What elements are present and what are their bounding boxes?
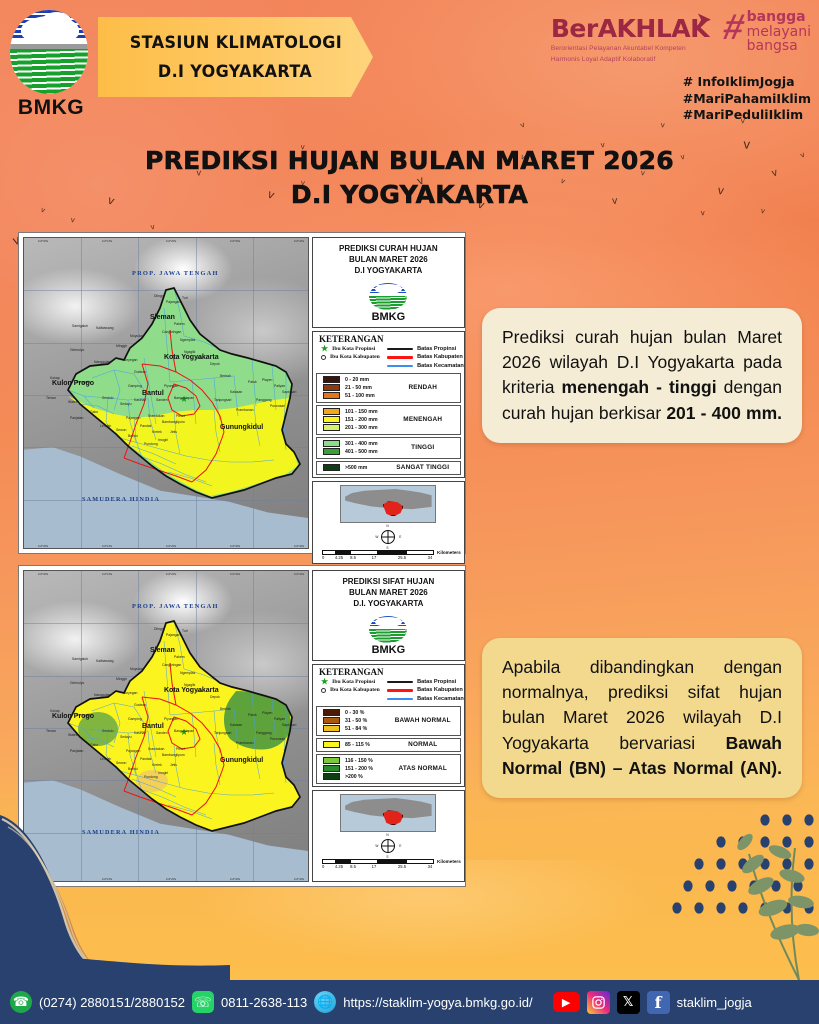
footer-website[interactable]: https://staklim-yogya.bmkg.go.id/ bbox=[343, 995, 532, 1010]
class-range-label: 116 - 150 % bbox=[345, 758, 373, 764]
berakhlak-sub-2: Harmonis Loyal Adaptif Kolaboratif bbox=[551, 55, 709, 65]
map1-legend-box: KETERANGAN ★ Ibu Kota Propinsi Ibu Kota … bbox=[312, 331, 465, 478]
map-label: Bantul bbox=[128, 434, 138, 438]
map-label: Mlati bbox=[196, 689, 203, 693]
axis-tick: 110°10'E bbox=[102, 545, 112, 548]
map-label: Panggang bbox=[256, 731, 271, 735]
axis-tick: 110°00'E bbox=[38, 545, 48, 548]
map-label: Pandak bbox=[140, 424, 152, 428]
axis-tick: 110°10'E bbox=[102, 573, 112, 576]
class-row: 201 - 300 mm bbox=[317, 424, 386, 432]
map-label: PROP. JAWA TENGAH bbox=[132, 270, 219, 277]
boundary-line-row-2: Batas Kecamatan bbox=[387, 695, 464, 704]
map-label: Piyungan bbox=[164, 384, 178, 388]
bird-icon: ᴠ bbox=[150, 223, 155, 231]
class-row: >500 mm bbox=[317, 464, 386, 472]
map-label: Bantul bbox=[142, 390, 164, 397]
class-row: 401 - 500 mm bbox=[317, 448, 386, 456]
axis-tick: 110°00'E bbox=[38, 240, 48, 243]
scale-label: 34 bbox=[416, 555, 444, 560]
bangga-line-1: bangga bbox=[747, 10, 811, 25]
map1-bmkg-logo: BMKG bbox=[313, 280, 464, 327]
class-color-swatch bbox=[323, 448, 340, 455]
banner-line-2: D.I YOGYAKARTA bbox=[158, 62, 312, 82]
class-group-name: NORMAL bbox=[386, 741, 460, 748]
axis-tick: 110°20'E bbox=[166, 573, 176, 576]
map-label: Imogiri bbox=[158, 438, 168, 442]
map1-scale-unit: Kilometers bbox=[437, 550, 461, 555]
map-label: Pakem bbox=[174, 655, 185, 659]
map-label: Sanden bbox=[156, 398, 168, 402]
class-group-name: RENDAH bbox=[386, 384, 460, 391]
whatsapp-icon[interactable]: ☏ bbox=[192, 991, 214, 1013]
map2-keterangan-heading: KETERANGAN bbox=[313, 665, 464, 678]
map-label: Pajangan bbox=[166, 300, 180, 304]
map-label: Turi bbox=[182, 296, 188, 300]
map1-scale-bar: Kilometers 04.258.51725.534 bbox=[316, 550, 461, 561]
bmkg-land-stripes bbox=[10, 49, 88, 94]
map-label: Godean bbox=[134, 370, 146, 374]
map-label: Ngemplak bbox=[180, 671, 195, 675]
decoration-right-leaves bbox=[649, 790, 819, 980]
map-label: Berbah bbox=[220, 374, 231, 378]
header: BMKG STASIUN KLIMATOLOGI D.I YOGYAKARTA … bbox=[0, 0, 819, 125]
station-banner: STASIUN KLIMATOLOGI D.I YOGYAKARTA bbox=[98, 17, 373, 97]
youtube-icon[interactable]: ▶ bbox=[553, 992, 580, 1012]
map-label: Temon bbox=[46, 729, 56, 733]
class-color-swatch bbox=[323, 773, 340, 780]
axis-tick: 110°40'E bbox=[294, 240, 304, 243]
bmkg-logo-text: BMKG bbox=[10, 96, 92, 120]
map2-bmkg-label: BMKG bbox=[372, 644, 406, 656]
map2-title-box: PREDIKSI SIFAT HUJAN BULAN MARET 2026 D.… bbox=[312, 570, 465, 661]
class-range-label: 301 - 400 mm bbox=[345, 441, 378, 447]
rainfall-summary-bubble: Prediksi curah hujan bulan Maret 2026 wi… bbox=[482, 308, 802, 443]
map-label: Saptosari bbox=[282, 723, 296, 727]
boundary-line-label: Batas Kabupaten bbox=[417, 686, 463, 695]
axis-tick: 110°00'E bbox=[38, 573, 48, 576]
class-color-swatch bbox=[323, 765, 340, 772]
class-row: 116 - 150 % bbox=[317, 757, 386, 765]
class-color-swatch bbox=[323, 464, 340, 471]
map-label: Banguntapan bbox=[174, 396, 194, 400]
star-icon: ★ bbox=[321, 345, 328, 353]
map2-symbol-label-0: Ibu Kota Propinsi bbox=[332, 678, 375, 687]
scale-label: 25.5 bbox=[388, 555, 416, 560]
map-label: Gunungkidul bbox=[220, 424, 263, 431]
berakhlak-sub-1: Berorientasi Pelayanan Akuntabel Kompete… bbox=[551, 44, 709, 54]
map2-scale-unit: Kilometers bbox=[437, 859, 461, 864]
axis-tick: 110°20'E bbox=[166, 240, 176, 243]
map2-symbol-row-1: Ibu Kota Kabupaten bbox=[313, 686, 383, 695]
class-group-1: 85 - 115 %NORMAL bbox=[316, 738, 461, 752]
map-label: Pajangan bbox=[126, 749, 140, 753]
map1-legend-title-1: PREDIKSI CURAH HUJAN bbox=[317, 243, 460, 254]
class-group-2: 301 - 400 mm401 - 500 mmTINGGI bbox=[316, 437, 461, 459]
map2-inset-box: N S E W Kilometers bbox=[312, 790, 465, 882]
map-label: Saptosari bbox=[282, 390, 296, 394]
footer-whatsapp: 0811-2638-113 bbox=[221, 995, 307, 1010]
hashtag-2: #MariPeduliIklim bbox=[683, 107, 811, 124]
class-color-swatch bbox=[323, 717, 340, 724]
map-label: Lendah bbox=[100, 424, 111, 428]
class-color-swatch bbox=[323, 725, 340, 732]
map-label: Pajangan bbox=[166, 633, 180, 637]
map-label: Banguntapan bbox=[174, 729, 194, 733]
map-label: Purwosari bbox=[270, 404, 285, 408]
map-label: Gunungkidul bbox=[220, 757, 263, 764]
map-label: Tanjungsari bbox=[214, 398, 231, 402]
map-label: Sleman bbox=[150, 647, 175, 654]
page-title-line-1: PREDIKSI HUJAN BULAN MARET 2026 bbox=[0, 144, 819, 178]
boundary-line-label: Batas Propinsi bbox=[417, 345, 456, 354]
map-label: Kalibawang bbox=[96, 659, 114, 663]
class-group-name: BAWAH NORMAL bbox=[386, 717, 460, 724]
map-label: Prambanan bbox=[236, 408, 254, 412]
map-label: Wates bbox=[68, 400, 77, 404]
class-row: 31 - 50 % bbox=[317, 717, 386, 725]
map-label: Piyungan bbox=[164, 717, 178, 721]
class-row: 0 - 20 mm bbox=[317, 376, 386, 384]
boundary-line-swatch bbox=[387, 681, 413, 684]
map-label: Purwosari bbox=[270, 737, 285, 741]
map-label: Paliyan bbox=[274, 717, 285, 721]
scale-label: 34 bbox=[416, 864, 444, 869]
scale-label: 17 bbox=[360, 864, 388, 869]
scale-label: 4.25 bbox=[332, 555, 346, 560]
map-label: Pundong bbox=[144, 775, 158, 779]
map-label: Panjatan bbox=[70, 749, 83, 753]
class-group-1: 101 - 150 mm151 - 200 mm201 - 300 mmMENE… bbox=[316, 405, 461, 435]
footer-phone: (0274) 2880151/2880152 bbox=[39, 995, 185, 1010]
map-label: Minggir bbox=[116, 344, 127, 348]
map-label: Pundong bbox=[144, 442, 158, 446]
map2-legend-title-2: BULAN MARET 2026 bbox=[317, 587, 460, 598]
map-label: Playen bbox=[262, 378, 272, 382]
boundary-line-swatch bbox=[387, 356, 413, 359]
class-color-swatch bbox=[323, 408, 340, 415]
axis-tick: 110°40'E bbox=[294, 545, 304, 548]
map-label: Sleman bbox=[150, 314, 175, 321]
axis-tick: 110°30'E bbox=[230, 573, 240, 576]
map1-symbol-row-1: Ibu Kota Kabupaten bbox=[313, 353, 383, 362]
class-row: 301 - 400 mm bbox=[317, 440, 386, 448]
map-label: Jetis bbox=[170, 763, 177, 767]
class-color-swatch bbox=[323, 741, 340, 748]
map-label: Galur bbox=[90, 743, 98, 747]
map-label: Patuk bbox=[248, 380, 257, 384]
class-group-2: 116 - 150 %151 - 200 %>200 %ATAS NORMAL bbox=[316, 754, 461, 784]
compass-rose-icon: N S E W bbox=[375, 834, 401, 858]
boundary-line-row-1: Batas Kabupaten bbox=[387, 353, 464, 362]
class-range-label: >200 % bbox=[345, 774, 363, 780]
instagram-icon[interactable] bbox=[587, 991, 610, 1014]
map-label: Minggir bbox=[116, 677, 127, 681]
map1-bmkg-label: BMKG bbox=[372, 311, 406, 323]
decoration-left-wave bbox=[0, 805, 230, 980]
map-label: Ngemplak bbox=[180, 338, 195, 342]
map-label: Cangkringan bbox=[162, 663, 181, 667]
page-title: PREDIKSI HUJAN BULAN MARET 2026 D.I YOGY… bbox=[0, 144, 819, 212]
map-label: PROP. JAWA TENGAH bbox=[132, 603, 219, 610]
star-icon: ★ bbox=[321, 678, 328, 686]
map-label: Dlingo bbox=[154, 627, 164, 631]
map1-legend-title-2: BULAN MARET 2026 bbox=[317, 254, 460, 265]
map2-boundary-lines: Batas PropinsiBatas KabupatenBatas Kecam… bbox=[383, 678, 464, 704]
hashtag-1: #MariPahamiIklim bbox=[683, 91, 811, 108]
class-color-swatch bbox=[323, 392, 340, 399]
hash-icon: # bbox=[720, 10, 747, 43]
boundary-line-swatch bbox=[387, 348, 413, 351]
map-label: Pleret bbox=[176, 414, 185, 418]
map-label: Depok bbox=[210, 362, 220, 366]
map-label: Ngaglik bbox=[184, 683, 195, 687]
scale-label: 8.5 bbox=[346, 555, 360, 560]
map-label: Pleret bbox=[176, 747, 185, 751]
map-label: Temon bbox=[46, 396, 56, 400]
class-range-label: 151 - 200 mm bbox=[345, 417, 378, 423]
class-range-label: 0 - 30 % bbox=[345, 710, 364, 716]
map-label: Panjatan bbox=[70, 416, 83, 420]
map1-legend-title-3: D.I YOGYAKARTA bbox=[317, 265, 460, 276]
boundary-line-row-0: Batas Propinsi bbox=[387, 678, 464, 687]
map1-title-box: PREDIKSI CURAH HUJAN BULAN MARET 2026 D.… bbox=[312, 237, 465, 328]
berakhlak-arrow-icon: ➤ bbox=[697, 10, 711, 30]
map-label: Pengasih bbox=[76, 380, 90, 384]
map-label: Pajangan bbox=[126, 416, 140, 420]
class-range-label: 51 - 100 mm bbox=[345, 393, 375, 399]
scale-label: 0 bbox=[322, 864, 332, 869]
class-range-label: 31 - 50 % bbox=[345, 718, 367, 724]
map-label: SAMUDERA HINDIA bbox=[82, 496, 160, 503]
map-label: Bantul bbox=[142, 723, 164, 730]
banner-line-1: STASIUN KLIMATOLOGI bbox=[129, 33, 341, 53]
map-label: Dlingo bbox=[154, 294, 164, 298]
class-row: 151 - 200 mm bbox=[317, 416, 386, 424]
map-label: Turi bbox=[182, 629, 188, 633]
class-range-label: >500 mm bbox=[345, 465, 367, 471]
map-label: Mlati bbox=[196, 356, 203, 360]
map-label: Sedayu bbox=[120, 735, 132, 739]
map-label: Kalibawang bbox=[96, 326, 114, 330]
class-group-0: 0 - 30 %31 - 50 %51 - 84 %BAWAH NORMAL bbox=[316, 706, 461, 736]
map-label: Samigaluh bbox=[72, 324, 88, 328]
map2-class-groups: 0 - 30 %31 - 50 %51 - 84 %BAWAH NORMAL85… bbox=[313, 704, 464, 786]
class-range-label: 51 - 84 % bbox=[345, 726, 367, 732]
axis-tick: 110°40'E bbox=[294, 878, 304, 881]
axis-tick: 110°40'E bbox=[294, 573, 304, 576]
bmkg-logo: BMKG bbox=[10, 10, 88, 94]
hashtag-0: # InfoIklimJogja bbox=[683, 74, 811, 91]
map-label: Wates bbox=[68, 733, 77, 737]
map-label: Galur bbox=[90, 410, 98, 414]
class-group-3: >500 mmSANGAT TINGGI bbox=[316, 461, 461, 475]
footer-contact-bar: ☎ (0274) 2880151/2880152 ☏ 0811-2638-113… bbox=[0, 980, 819, 1024]
map-label: Prambanan bbox=[236, 741, 254, 745]
map-label: Tanjungsari bbox=[214, 731, 231, 735]
rain-character-summary-bubble: Apabila dibandingkan dengan normalnya, p… bbox=[482, 638, 802, 798]
bangga-line-3: bangsa bbox=[747, 39, 811, 54]
map-label: Pakem bbox=[174, 322, 185, 326]
class-group-name: SANGAT TINGGI bbox=[386, 464, 460, 471]
circle-icon bbox=[321, 688, 326, 693]
map-label: Kota Yogyakarta bbox=[164, 354, 219, 361]
bmkg-logo-disc bbox=[10, 10, 88, 94]
map-label: Nanggulan bbox=[94, 360, 110, 364]
map2-legend-title-1: PREDIKSI SIFAT HUJAN bbox=[317, 576, 460, 587]
map-label: Imogiri bbox=[158, 771, 168, 775]
map-label: Cangkringan bbox=[162, 330, 181, 334]
map-label: Kretek bbox=[152, 430, 162, 434]
map-label: Kokap bbox=[50, 709, 60, 713]
berakhlak-logo: BerAKHLAK ➤ Berorientasi Pelayanan Akunt… bbox=[551, 14, 709, 64]
map-label: Moyudan bbox=[130, 334, 144, 338]
class-color-swatch bbox=[323, 709, 340, 716]
map-label: Girimulyo bbox=[70, 681, 84, 685]
hashtag-list: # InfoIklimJogja #MariPahamiIklim #MariP… bbox=[683, 74, 811, 124]
class-group-0: 0 - 20 mm21 - 50 mm51 - 100 mmRENDAH bbox=[316, 373, 461, 403]
map-label: Kota Yogyakarta bbox=[164, 687, 219, 694]
axis-tick: 110°20'E bbox=[166, 545, 176, 548]
axis-tick: 110°30'E bbox=[230, 878, 240, 881]
class-row: 151 - 200 % bbox=[317, 765, 386, 773]
class-color-swatch bbox=[323, 440, 340, 447]
map-label: Girimulyo bbox=[70, 348, 84, 352]
class-range-label: 151 - 200 % bbox=[345, 766, 373, 772]
axis-tick: 110°30'E bbox=[230, 240, 240, 243]
map-label: Gamping bbox=[128, 717, 142, 721]
page-title-line-2: D.I YOGYAKARTA bbox=[0, 178, 819, 212]
boundary-line-swatch bbox=[387, 698, 413, 701]
map-label: Nanggulan bbox=[94, 693, 110, 697]
boundary-line-label: Batas Kabupaten bbox=[417, 353, 463, 362]
class-group-name: MENENGAH bbox=[386, 416, 460, 423]
class-range-label: 0 - 20 mm bbox=[345, 377, 369, 383]
map-label: Pandak bbox=[140, 757, 152, 761]
map-label: Depok bbox=[210, 695, 220, 699]
rainfall-summary-text: Prediksi curah hujan bulan Maret 2026 wi… bbox=[502, 325, 782, 426]
class-color-swatch bbox=[323, 424, 340, 431]
bird-icon: ᴠ bbox=[70, 216, 75, 224]
map-label: Lendah bbox=[100, 757, 111, 761]
map-label: Jetis bbox=[170, 430, 177, 434]
map-label: Sentolo bbox=[102, 729, 114, 733]
compass-rose-icon: N S E W bbox=[375, 525, 401, 549]
map-label: Kretek bbox=[152, 763, 162, 767]
scale-label: 4.25 bbox=[332, 864, 346, 869]
map1-inset-box: N S E W Kilometers bbox=[312, 481, 465, 565]
map-label: Kalasan bbox=[230, 723, 242, 727]
footer-social-handle: staklim_jogja bbox=[677, 995, 752, 1010]
class-color-swatch bbox=[323, 384, 340, 391]
diy-choropleth: ★ bbox=[24, 238, 309, 549]
map-label: Sedayu bbox=[120, 402, 132, 406]
map-label: Bambanglipuro bbox=[162, 753, 185, 757]
berakhlak-wordmark: BerAKHLAK bbox=[551, 14, 709, 43]
map1-symbol-label-0: Ibu Kota Propinsi bbox=[332, 345, 375, 354]
boundary-line-row-0: Batas Propinsi bbox=[387, 345, 464, 354]
map2-symbol-label-1: Ibu Kota Kabupaten bbox=[330, 686, 380, 695]
map2-legend-box: KETERANGAN ★ Ibu Kota Propinsi Ibu Kota … bbox=[312, 664, 465, 787]
class-row: 0 - 30 % bbox=[317, 709, 386, 717]
bmkg-horizon-band bbox=[10, 44, 88, 49]
map-label: Samigaluh bbox=[72, 657, 88, 661]
map-label: Panggang bbox=[256, 398, 271, 402]
class-color-swatch bbox=[323, 416, 340, 423]
class-row: >200 % bbox=[317, 773, 386, 781]
map-label: Patuk bbox=[248, 713, 257, 717]
map-label: Godean bbox=[134, 703, 146, 707]
facebook-icon[interactable]: f bbox=[647, 991, 670, 1014]
class-range-label: 85 - 115 % bbox=[345, 742, 370, 748]
boundary-line-row-1: Batas Kabupaten bbox=[387, 686, 464, 695]
rainfall-prediction-map-card: ★PROP. JAWA TENGAHSAMUDERA HINDIASlemanK… bbox=[18, 232, 466, 554]
map1-location-inset bbox=[340, 485, 436, 523]
class-range-label: 21 - 50 mm bbox=[345, 385, 372, 391]
map-label: Bambanglipuro bbox=[162, 420, 185, 424]
map-label: Ngaglik bbox=[184, 350, 195, 354]
map1-keterangan-heading: KETERANGAN bbox=[313, 332, 464, 345]
axis-tick: 110°30'E bbox=[230, 545, 240, 548]
map-label: Srandakan bbox=[148, 414, 164, 418]
map1-class-groups: 0 - 20 mm21 - 50 mm51 - 100 mmRENDAH101 … bbox=[313, 371, 464, 477]
rainfall-map-image: ★PROP. JAWA TENGAHSAMUDERA HINDIASlemanK… bbox=[23, 237, 309, 549]
map2-symbol-row-0: ★ Ibu Kota Propinsi bbox=[313, 678, 383, 687]
map-label: Moyudan bbox=[130, 667, 144, 671]
map-label: Sewon bbox=[116, 761, 126, 765]
map1-symbol-label-1: Ibu Kota Kabupaten bbox=[330, 353, 380, 362]
class-color-swatch bbox=[323, 376, 340, 383]
boundary-line-swatch bbox=[387, 365, 413, 368]
boundary-line-label: Batas Propinsi bbox=[417, 678, 456, 687]
map-label: Paliyan bbox=[274, 384, 285, 388]
map-label: Gamping bbox=[128, 384, 142, 388]
axis-tick: 110°10'E bbox=[102, 240, 112, 243]
map2-legend-title-3: D.I. YOGYAKARTA bbox=[317, 598, 460, 609]
map2-location-inset bbox=[340, 794, 436, 832]
map-label: Kasihan bbox=[134, 398, 146, 402]
boundary-line-label: Batas Kecamatan bbox=[417, 695, 464, 704]
bangga-line-2: melayani bbox=[747, 25, 811, 40]
map-label: Sanden bbox=[156, 731, 168, 735]
class-range-label: 101 - 150 mm bbox=[345, 409, 378, 415]
map-label: Bantul bbox=[128, 767, 138, 771]
circle-icon bbox=[321, 355, 326, 360]
map-label: Sentolo bbox=[102, 396, 114, 400]
bangga-melayani-bangsa-logo: # bangga melayani bangsa bbox=[724, 10, 811, 54]
class-range-label: 401 - 500 mm bbox=[345, 449, 378, 455]
scale-label: 17 bbox=[360, 555, 388, 560]
globe-icon: 🌐 bbox=[314, 991, 336, 1013]
map-label: Seyegan bbox=[124, 358, 137, 362]
class-range-label: 201 - 300 mm bbox=[345, 425, 378, 431]
map-label: Kasihan bbox=[134, 731, 146, 735]
x-icon[interactable]: 𝕏 bbox=[617, 991, 640, 1014]
boundary-line-swatch bbox=[387, 689, 413, 692]
rain-character-summary-text: Apabila dibandingkan dengan normalnya, p… bbox=[502, 655, 782, 781]
class-row: 51 - 84 % bbox=[317, 725, 386, 733]
map-label: Kalasan bbox=[230, 390, 242, 394]
boundary-line-row-2: Batas Kecamatan bbox=[387, 362, 464, 371]
boundary-line-label: Batas Kecamatan bbox=[417, 362, 464, 371]
map-label: Kokap bbox=[50, 376, 60, 380]
bmkg-cloud-icon-2 bbox=[41, 12, 72, 34]
map-label: Sewon bbox=[116, 428, 126, 432]
map-label: Berbah bbox=[220, 707, 231, 711]
class-row: 51 - 100 mm bbox=[317, 392, 386, 400]
class-group-name: TINGGI bbox=[386, 444, 460, 451]
map1-symbol-row-0: ★ Ibu Kota Propinsi bbox=[313, 345, 383, 354]
